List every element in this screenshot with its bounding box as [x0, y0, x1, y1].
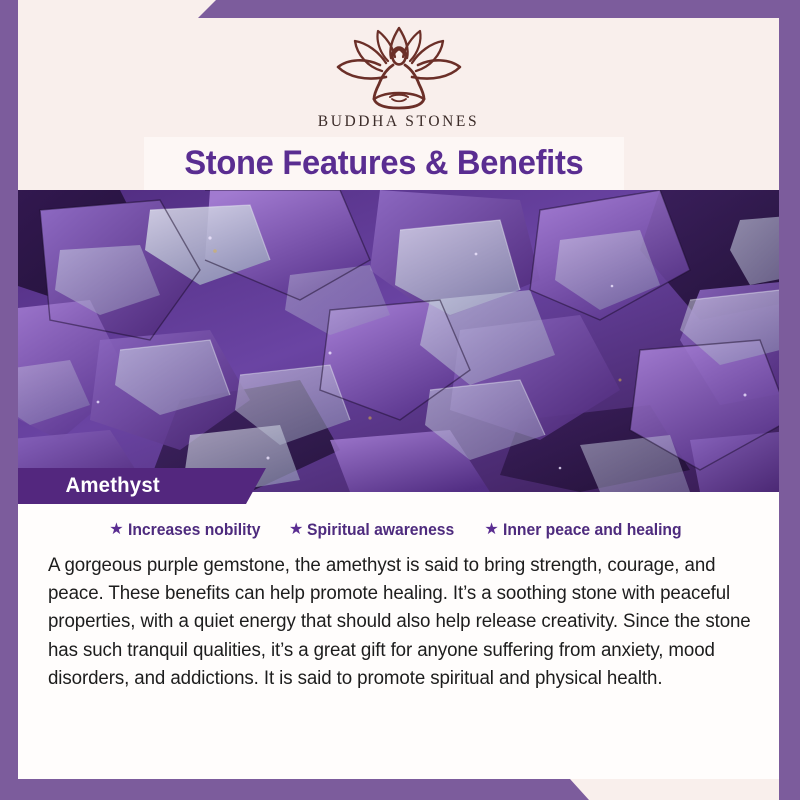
stone-details-panel: ★ Increases nobility ★ Spiritual awarene… [18, 492, 779, 779]
page-title: Stone Features & Benefits [184, 144, 583, 183]
card-canvas: BUDDHA STONES [18, 17, 779, 779]
benefit-label: Inner peace and healing [503, 521, 682, 540]
frame-bottom-border [0, 779, 800, 800]
lotus-meditation-icon [324, 25, 474, 111]
star-icon: ★ [289, 522, 303, 538]
infographic-card: BUDDHA STONES [0, 0, 800, 800]
page-title-banner: Stone Features & Benefits [144, 137, 624, 190]
benefit-item-spiritual-awareness: ★ Spiritual awareness [289, 521, 462, 540]
star-icon: ★ [109, 522, 123, 538]
stone-name-text: Amethyst [65, 474, 159, 498]
brand-logo: BUDDHA STONES [18, 25, 779, 131]
star-icon: ★ [484, 522, 498, 538]
benefit-item-increases-nobility: ★ Increases nobility [109, 521, 267, 540]
benefit-item-inner-peace-and-healing: ★ Inner peace and healing [484, 521, 690, 540]
frame-left-border [0, 0, 18, 800]
benefit-label: Increases nobility [128, 521, 260, 540]
frame-top-border [0, 0, 800, 18]
frame-right-border [779, 0, 800, 800]
stone-name-banner: Amethyst [18, 468, 266, 504]
stone-description: A gorgeous purple gemstone, the amethyst… [48, 551, 774, 692]
benefit-label: Spiritual awareness [307, 521, 454, 540]
amethyst-crystal-cluster-photo [18, 190, 779, 492]
brand-name: BUDDHA STONES [318, 113, 479, 131]
